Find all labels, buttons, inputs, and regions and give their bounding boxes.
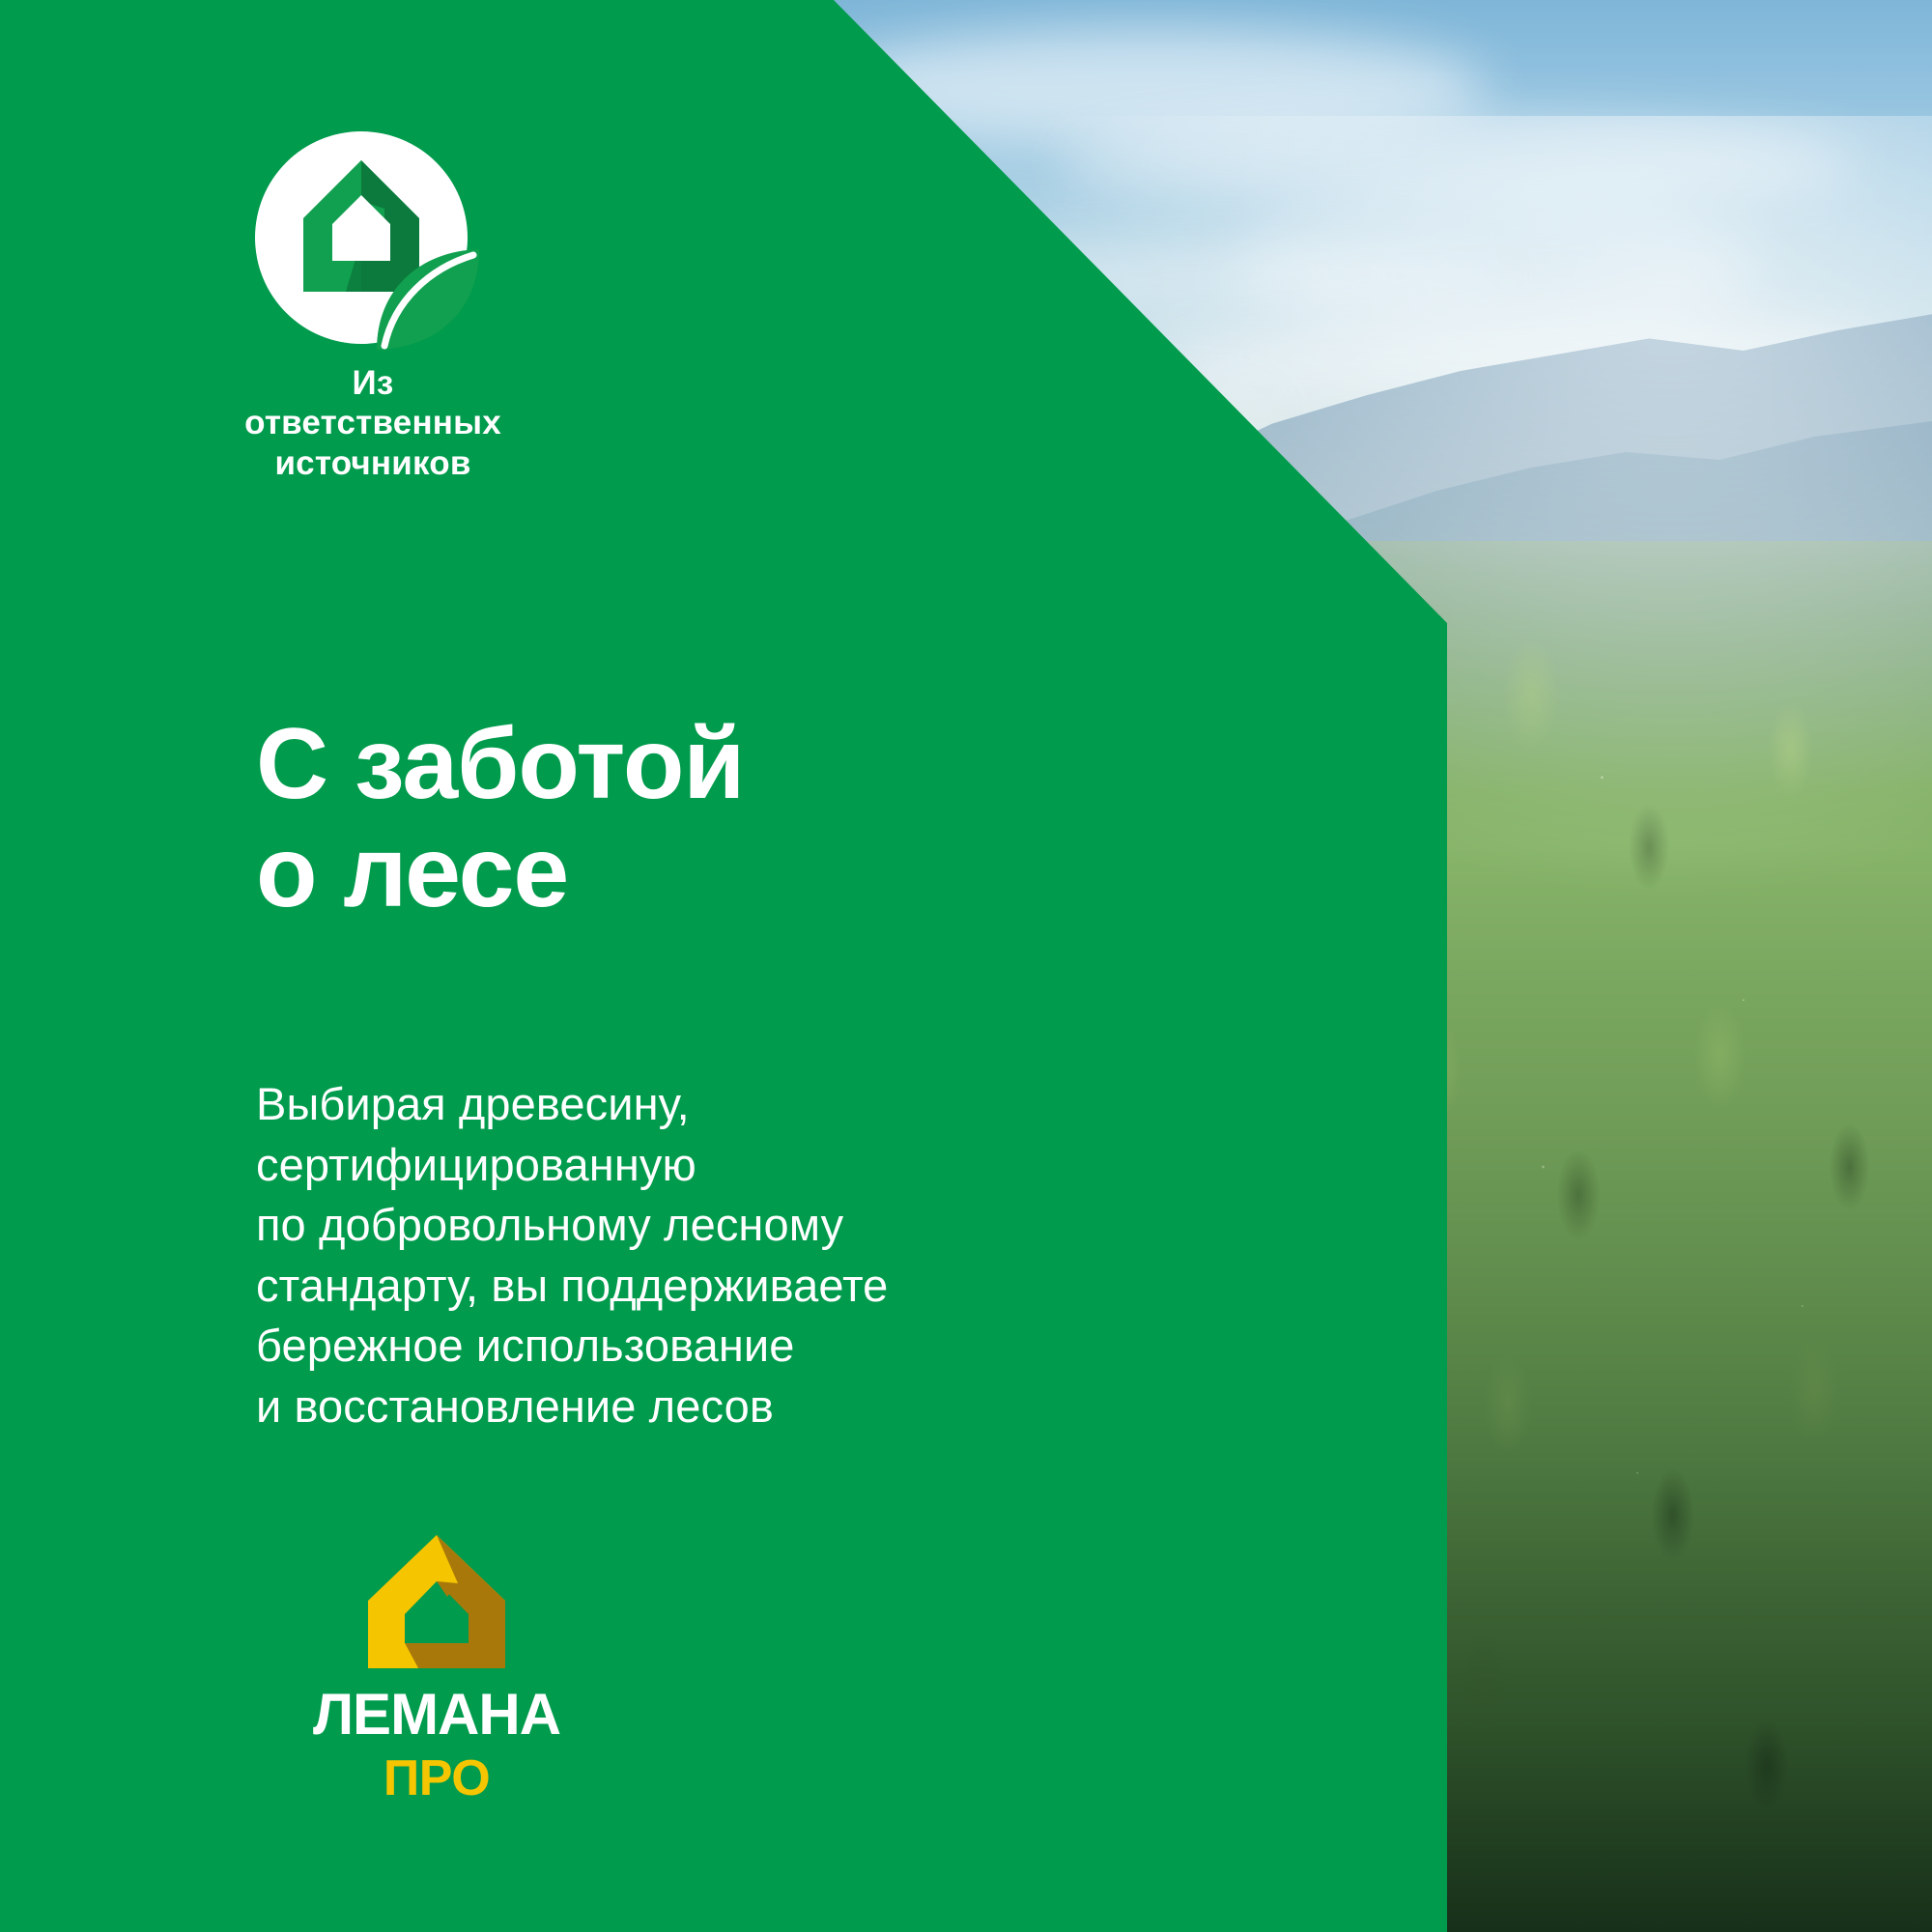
page-title: С заботой о лесе (256, 710, 744, 927)
lemana-house-icon (364, 1531, 509, 1672)
lemana-wordmark: ЛЕМАНА (277, 1686, 596, 1744)
lemana-wordmark-text: ЛЕМАНА (313, 1686, 560, 1744)
pro-wordmark-text: ПРО (384, 1752, 490, 1803)
eco-badge: Из ответственных источников (249, 126, 520, 483)
poster-canvas: Из ответственных источников С заботой о … (0, 0, 1932, 1932)
pro-wordmark: ПРО (340, 1752, 533, 1803)
lemana-pro-logo: ЛЕМАНА ПРО (263, 1531, 611, 1803)
eco-badge-caption: Из ответственных источников (228, 363, 518, 483)
eco-house-leaf-circle-icon (249, 126, 500, 350)
body-paragraph: Выбирая древесину, сертифицированную по … (256, 1074, 888, 1436)
content-layer: Из ответственных источников С заботой о … (0, 0, 1447, 1932)
